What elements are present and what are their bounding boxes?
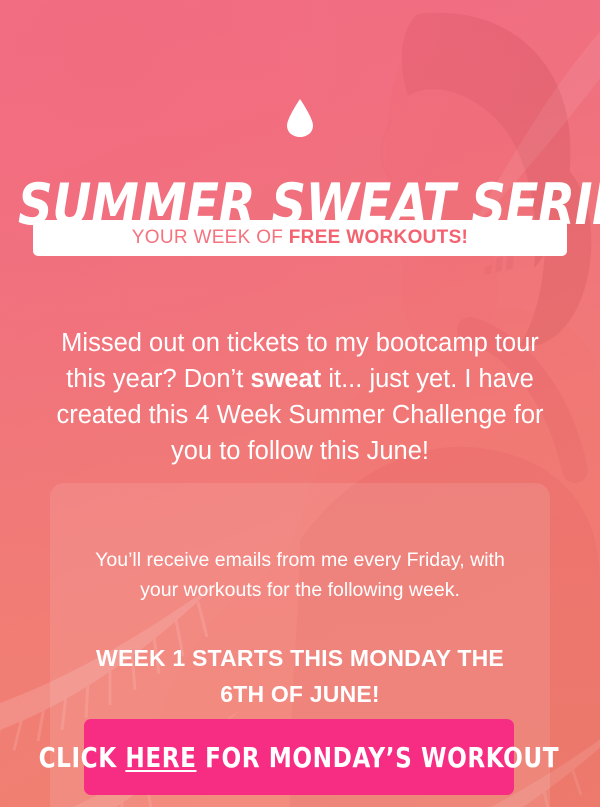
water-drop-icon-wrap [0, 98, 600, 138]
intro-paragraph: Missed out on tickets to my bootcamp tou… [50, 325, 550, 469]
subtitle-text: YOUR WEEK OF FREE WORKOUTS! [132, 227, 468, 249]
cta-label-link: HERE [126, 741, 197, 774]
cta-label-after: FOR MONDAY’S WORKOUT [197, 741, 560, 774]
water-drop-icon [285, 98, 315, 138]
subtitle-banner: YOUR WEEK OF FREE WORKOUTS! [33, 220, 567, 256]
monday-workout-cta-button[interactable]: CLICK HERE FOR MONDAY’S WORKOUT [84, 719, 514, 795]
summer-sweat-series-promo: SUMMER SWEAT SERIES YOUR WEEK OF FREE WO… [0, 0, 600, 807]
cta-button-label: CLICK HERE FOR MONDAY’S WORKOUT [39, 741, 559, 774]
email-schedule-note: You’ll receive emails from me every Frid… [78, 545, 522, 605]
subtitle-regular-text: YOUR WEEK OF [132, 227, 289, 248]
cta-label-before: CLICK [39, 741, 126, 774]
start-date-headline: WEEK 1 STARTS THIS MONDAY THE 6TH OF JUN… [78, 640, 522, 712]
subtitle-bold-text: FREE WORKOUTS! [289, 227, 468, 248]
intro-text-emphasis: sweat [250, 365, 321, 393]
